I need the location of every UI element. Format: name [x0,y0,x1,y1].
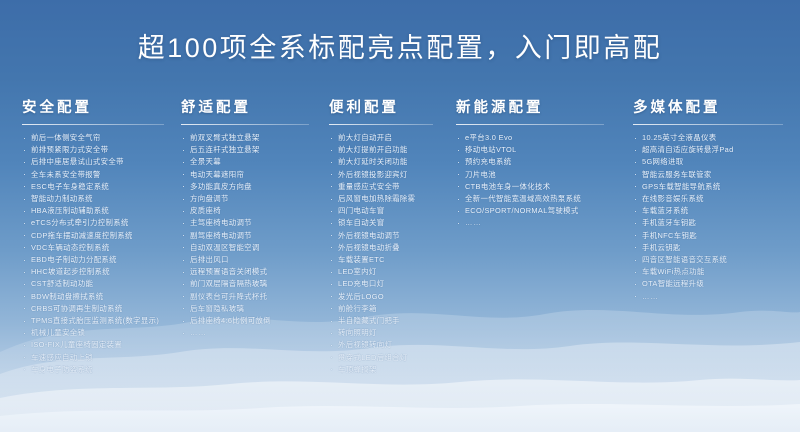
feature-list-new-energy: e平台3.0 Evo 移动电站VTOL 预约充电系统 刀片电池 CTB电池车身一… [456,132,625,230]
list-item: 外后视镜电动折叠 [329,242,450,254]
column-header-comfort: 舒适配置 [181,96,325,117]
list-item: TPMS直接式胎压监测系统(数字显示) [22,315,175,327]
list-item: 刀片电池 [456,169,625,181]
list-item: 锁车自动关窗 [329,217,450,229]
list-item: 车载WiFi热点功能 [633,266,800,278]
list-item: CRBS可协调再生制动系统 [22,303,175,315]
list-item: 转向照明灯 [329,327,450,339]
list-item: 自动双温区智能空调 [181,242,325,254]
list-item: 5G网络进取 [633,156,800,168]
list-item: 后排中座居悬试山式安全带 [22,156,175,168]
feature-list-safety: 前后一体侧安全气帘 前排预紧限力式安全带 后排中座居悬试山式安全带 全车未系安全… [22,132,175,376]
column-divider [456,124,604,125]
list-item: GPS车载智能导航系统 [633,181,800,193]
list-item: LED充电口灯 [329,278,450,290]
column-safety: 安全配置 前后一体侧安全气帘 前排预紧限力式安全带 后排中座居悬试山式安全带 全… [0,96,175,376]
list-item: 前舱行李箱 [329,303,450,315]
list-item: 智能动力制动系统 [22,193,175,205]
list-item: 前排预紧限力式安全带 [22,144,175,156]
list-item: 副仪表台可升降式杯托 [181,291,325,303]
list-item: 全车未系安全带报警 [22,169,175,181]
list-item: 后风窗电加热除霜除雾 [329,193,450,205]
column-multimedia: 多媒体配置 10.25英寸全液晶仪表 超高清自适应旋转悬浮Pad 5G网络进取 … [625,96,800,303]
list-item: 重量感应式安全带 [329,181,450,193]
list-item: e平台3.0 Evo [456,132,625,144]
column-header-multimedia: 多媒体配置 [633,96,800,117]
list-item: 外后视镜电动调节 [329,230,450,242]
list-item: 皮质座椅 [181,205,325,217]
column-new-energy: 新能源配置 e平台3.0 Evo 移动电站VTOL 预约充电系统 刀片电池 CT… [450,96,625,230]
list-item: LED室内灯 [329,266,450,278]
list-item: 前后一体侧安全气帘 [22,132,175,144]
feature-list-convenience: 前大灯自动开启 前大灯提前开启功能 前大灯延时关闭功能 外后视镜投影迎宾灯 重量… [329,132,450,376]
feature-list-comfort: 前双叉臂式独立悬架 后五连杆式独立悬架 全景天幕 电动天幕遮阳帘 多功能真皮方向… [181,132,325,339]
list-item: 预约充电系统 [456,156,625,168]
list-item: 车载蓝牙系统 [633,205,800,217]
list-item: 前大灯自动开启 [329,132,450,144]
list-item: CDP拖车摆动减速度控制系统 [22,230,175,242]
list-item: 超高清自适应旋转悬浮Pad [633,144,800,156]
list-item: 机械儿童安全锁 [22,327,175,339]
list-item: 主驾座椅电动调节 [181,217,325,229]
list-item: BDW制动盘擦拭系统 [22,291,175,303]
list-item: 后五连杆式独立悬架 [181,144,325,156]
column-comfort: 舒适配置 前双叉臂式独立悬架 后五连杆式独立悬架 全景天幕 电动天幕遮阳帘 多功… [175,96,325,339]
column-convenience: 便利配置 前大灯自动开启 前大灯提前开启功能 前大灯延时关闭功能 外后视镜投影迎… [325,96,450,376]
page-title: 超100项全系标配亮点配置，入门即高配 [0,26,800,65]
list-item: 车速感应自动上锁 [22,352,175,364]
list-item: HBA液压制动辅助系统 [22,205,175,217]
feature-list-multimedia: 10.25英寸全液晶仪表 超高清自适应旋转悬浮Pad 5G网络进取 智能云服务车… [633,132,800,303]
list-item: 前大灯提前开启功能 [329,144,450,156]
column-divider [181,124,309,125]
list-item: 外后视镜转向灯 [329,339,450,351]
list-item: ISO-FIX儿童座椅固定装置 [22,339,175,351]
list-item: ECO/SPORT/NORMAL驾驶模式 [456,205,625,217]
list-item: 方向盘调节 [181,193,325,205]
list-item: 贯穿式LED后组合灯 [329,352,450,364]
list-item: 后车窗隐私玻璃 [181,303,325,315]
column-divider [22,124,164,125]
list-item: 车身电子防盗系统 [22,364,175,376]
list-item: 后排出风口 [181,254,325,266]
list-item: 移动电站VTOL [456,144,625,156]
list-item: ESC电子车身稳定系统 [22,181,175,193]
list-item: 电动天幕遮阳帘 [181,169,325,181]
configuration-columns: 安全配置 前后一体侧安全气帘 前排预紧限力式安全带 后排中座居悬试山式安全带 全… [0,96,800,406]
list-item: 在线影音娱乐系统 [633,193,800,205]
list-item: 全景天幕 [181,156,325,168]
list-item-ellipsis: …… [633,291,800,303]
list-item: CST舒适制动功能 [22,278,175,290]
list-item: 外后视镜投影迎宾灯 [329,169,450,181]
column-header-new-energy: 新能源配置 [456,96,625,117]
slide-root: 超100项全系标配亮点配置，入门即高配 安全配置 前后一体侧安全气帘 前排预紧限… [0,0,800,432]
list-item: 车载装置ETC [329,254,450,266]
list-item: 前双叉臂式独立悬架 [181,132,325,144]
list-item-ellipsis: …… [456,217,625,229]
list-item: 半自隐藏式门把手 [329,315,450,327]
list-item-ellipsis: …… [181,327,325,339]
list-item: 远程预置语音关闭模式 [181,266,325,278]
list-item: 四门电动车窗 [329,205,450,217]
list-item: 全新一代智能宽温域高效热泵系统 [456,193,625,205]
list-item: 四音区智能语音交互系统 [633,254,800,266]
list-item: 手机云钥匙 [633,242,800,254]
list-item: 前大灯延时关闭功能 [329,156,450,168]
list-item: 副驾座椅电动调节 [181,230,325,242]
column-header-convenience: 便利配置 [329,96,450,117]
list-item: eTCS分布式牵引力控制系统 [22,217,175,229]
list-item: 后排座椅4:6比例可放倒 [181,315,325,327]
list-item: HHC坡道起步控制系统 [22,266,175,278]
list-item: 车顶蜂搁架 [329,364,450,376]
column-header-safety: 安全配置 [22,96,175,117]
list-item: OTA智能远程升级 [633,278,800,290]
list-item: CTB电池车身一体化技术 [456,181,625,193]
list-item: 手机NFC车钥匙 [633,230,800,242]
list-item: 10.25英寸全液晶仪表 [633,132,800,144]
list-item: 手机蓝牙车钥匙 [633,217,800,229]
list-item: 智能云服务车联管家 [633,169,800,181]
column-divider [329,124,433,125]
list-item: EBD电子制动力分配系统 [22,254,175,266]
list-item: 多功能真皮方向盘 [181,181,325,193]
list-item: 前门双层隔音隔热玻璃 [181,278,325,290]
column-divider [633,124,783,125]
list-item: 发光后LOGO [329,291,450,303]
list-item: VDC车辆动态控制系统 [22,242,175,254]
